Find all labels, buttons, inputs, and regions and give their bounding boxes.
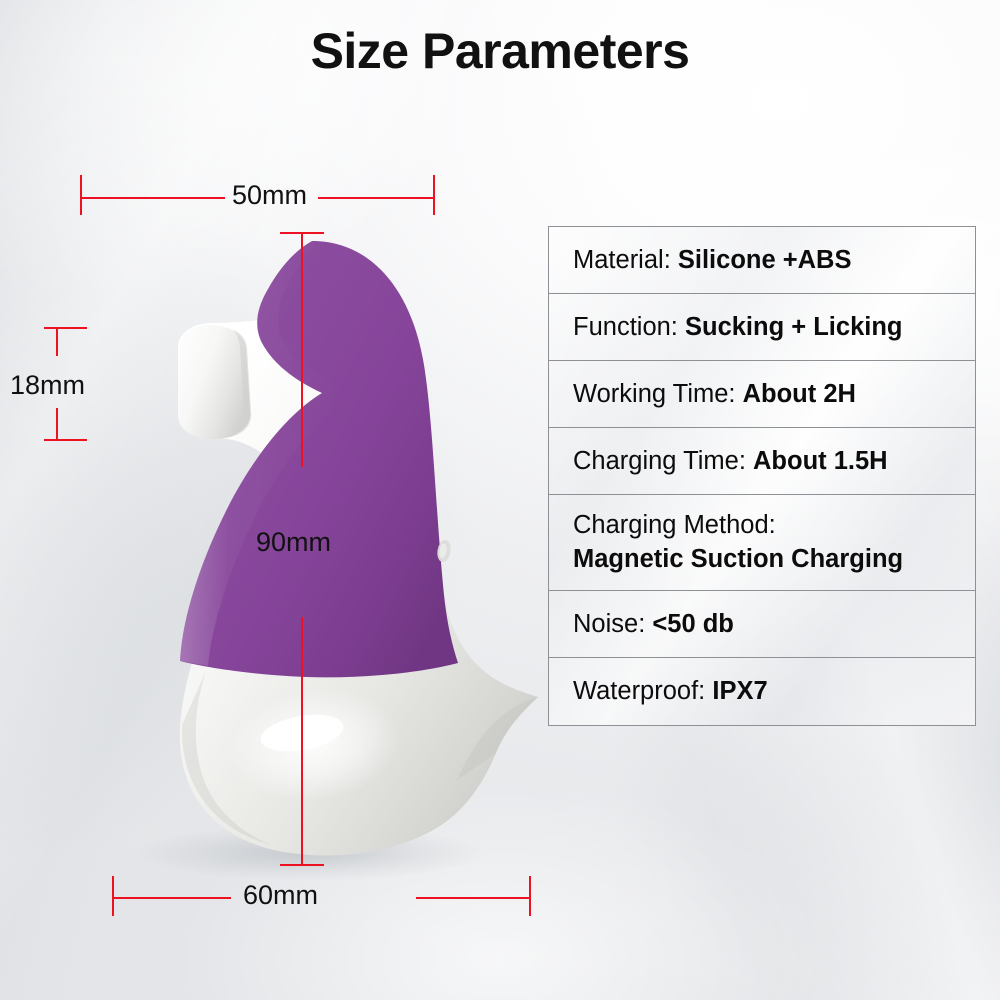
spec-label-charging-time: Charging Time: [573,447,746,475]
spec-label-noise: Noise: [573,610,645,638]
dim-90mm-line-bottom [301,617,303,865]
dim-18mm-line-bottom [56,408,58,440]
dim-60mm-label: 60mm [243,880,318,911]
size-parameters-infographic: Size Parameters [0,0,1000,1000]
spec-label-working-time: Working Time: [573,380,736,408]
dim-60mm-line-left [112,897,231,899]
spec-label-waterproof: Waterproof: [573,677,705,705]
dim-50mm-line-right [318,197,434,199]
spec-row-function: Function: Sucking + Licking [549,294,975,361]
spec-row-noise: Noise: <50 db [549,591,975,658]
spec-label-charging-method: Charging Method: [573,511,776,539]
spec-label-function: Function: [573,313,678,341]
dim-60mm-line-right [416,897,530,899]
dim-60mm-cap-right [529,876,531,916]
spec-value-function: Sucking + Licking [685,313,903,341]
spec-value-working-time: About 2H [743,380,856,408]
dim-90mm-cap-bottom [280,864,324,866]
spec-row-waterproof: Waterproof: IPX7 [549,658,975,725]
dim-90mm-label: 90mm [256,527,331,558]
spec-value-material: Silicone +ABS [678,246,852,274]
spec-label-material: Material: [573,246,671,274]
spec-value-waterproof: IPX7 [712,677,767,705]
spec-row-working-time: Working Time: About 2H [549,361,975,428]
spec-row-material: Material: Silicone +ABS [549,227,975,294]
dim-50mm-cap-right [433,175,435,215]
spec-value-charging-method: Magnetic Suction Charging [573,545,903,573]
spec-row-charging-method: Charging Method: Magnetic Suction Chargi… [549,495,975,591]
spec-value-noise: <50 db [652,610,734,638]
dim-18mm-line-top [56,327,58,356]
dim-60mm-cap-left [112,876,114,916]
page-title: Size Parameters [0,22,1000,80]
dim-50mm-label: 50mm [232,180,307,211]
dim-18mm-cap-bottom [44,439,87,441]
dim-50mm-cap-left [80,175,82,215]
dim-18mm-label: 18mm [10,370,85,401]
specifications-table: Material: Silicone +ABS Function: Suckin… [548,226,976,726]
spec-value-charging-time: About 1.5H [753,447,888,475]
product-purple-body [180,241,458,677]
dim-18mm-cap-top [44,327,87,329]
spec-row-charging-time: Charging Time: About 1.5H [549,428,975,495]
dim-50mm-line-left [80,197,225,199]
dim-90mm-line-top [301,232,303,467]
